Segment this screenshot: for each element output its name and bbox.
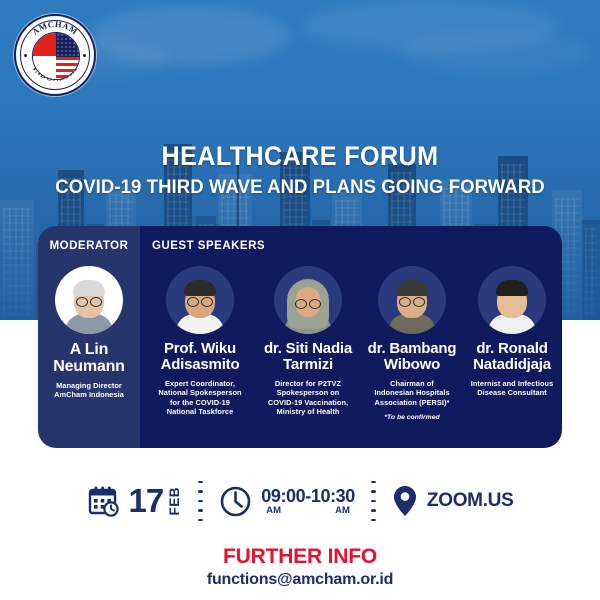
moderator-role: Managing Director AmCham Indonesia [38, 381, 140, 400]
portrait-hair [73, 280, 105, 296]
avatar [378, 266, 446, 334]
logo-flag-emblem [32, 32, 80, 80]
speaker-role: Internist and Infectious Disease Consult… [460, 379, 564, 398]
avatar [166, 266, 234, 334]
speaker-name: dr. Siti Nadia Tarmizi [252, 341, 364, 373]
dot-separator [371, 477, 376, 525]
time-text-group: 09:00-10:30 AM AM [261, 487, 355, 516]
avatar [274, 266, 342, 334]
portrait-illustration [489, 278, 535, 334]
further-info-heading: FURTHER INFO [0, 545, 600, 569]
time-block: 09:00-10:30 AM AM [219, 485, 355, 518]
speaker-role: Chairman of Indonesian Hospitals Associa… [358, 379, 466, 407]
moderator-heading: MODERATOR [38, 240, 140, 252]
speaker-role: Director for P2TVZ Spokesperson on COVID… [252, 379, 364, 417]
avatar [478, 266, 546, 334]
event-month: FEB [167, 487, 182, 516]
moderator-card: A Lin Neumann Managing Director AmCham I… [38, 266, 140, 400]
time-end-meridiem: AM [335, 505, 350, 516]
eyeglasses-icon [187, 297, 213, 305]
event-day: 17 [129, 482, 164, 520]
portrait-hair [184, 280, 216, 296]
amcham-indonesia-logo: AMCHAM INDONESIA [14, 14, 96, 96]
page-title: HEALTHCARE FORUM [15, 141, 585, 172]
time-range: 09:00-10:30 [261, 487, 355, 506]
guest-speakers-heading: GUEST SPEAKERS [152, 240, 332, 252]
cloud-shape [400, 30, 590, 74]
time-start-meridiem: AM [266, 505, 281, 516]
time-meridiems: AM AM [261, 505, 355, 516]
date-block: 17 FEB [87, 482, 183, 520]
portrait-hair [396, 280, 428, 296]
calendar-clock-icon [87, 484, 121, 518]
eyeglasses-icon [399, 297, 425, 305]
speaker-name: dr. Bambang Wibowo [358, 341, 466, 373]
speaker-role: Expert Coordinator, National Spokesperso… [144, 379, 256, 417]
speaker-card: Prof. Wiku Adisasmito Expert Coordinator… [144, 266, 256, 417]
indonesia-flag-half [33, 33, 56, 79]
dot-separator [198, 477, 203, 525]
logo-dot [24, 54, 27, 57]
usa-flag-half [56, 33, 79, 79]
speaker-name: Prof. Wiku Adisasmito [144, 341, 256, 373]
avatar [55, 266, 123, 334]
clock-icon [219, 485, 252, 518]
portrait-hair [496, 280, 528, 296]
event-location: ZOOM.US [427, 490, 514, 512]
speaker-name: dr. Ronald Natadidjaja [460, 341, 564, 373]
page-subtitle: COVID-19 THIRD WAVE AND PLANS GOING FORW… [15, 176, 585, 199]
portrait-illustration [177, 278, 223, 334]
logo-dot [83, 54, 86, 57]
location-block: ZOOM.US [392, 484, 514, 518]
eyeglasses-icon [76, 297, 102, 305]
speaker-card: dr. Siti Nadia Tarmizi Director for P2TV… [252, 266, 364, 417]
contact-email[interactable]: functions@amcham.or.id [0, 571, 600, 589]
map-pin-icon [392, 484, 418, 518]
eyeglasses-icon [295, 299, 321, 307]
portrait-illustration [389, 278, 435, 334]
event-details-bar: 17 FEB 09:00-10:30 AM AM [0, 470, 600, 532]
speaker-footnote: *To be confirmed [358, 414, 466, 421]
portrait-illustration [66, 278, 112, 334]
portrait-illustration [285, 278, 331, 334]
moderator-name: A Lin Neumann [38, 341, 140, 375]
event-poster: AMCHAM INDONESIA HEALTHCARE FORUM COVID-… [0, 0, 600, 600]
speaker-card: dr. Bambang Wibowo Chairman of Indonesia… [358, 266, 466, 421]
speaker-card: dr. Ronald Natadidjaja Internist and Inf… [460, 266, 564, 398]
